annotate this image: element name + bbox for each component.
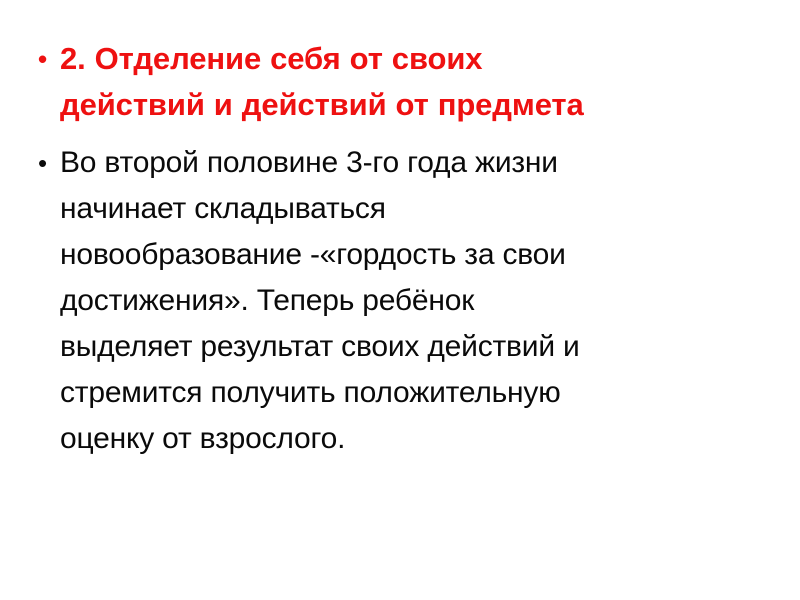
heading-line-1: 2. Отделение себя от своих <box>60 36 748 82</box>
bullet-point-icon: • <box>38 36 47 82</box>
body-line-6: стремится получить положительную <box>60 370 748 416</box>
body-line-2: начинает складываться <box>60 186 748 232</box>
bullet-item-heading[interactable]: • 2. Отделение себя от своих действий и … <box>0 36 800 128</box>
slide-canvas: • 2. Отделение себя от своих действий и … <box>0 0 800 600</box>
body-line-7: оценку от взрослого. <box>60 416 748 462</box>
body-line-5: выделяет результат своих действий и <box>60 324 748 370</box>
slide-content-placeholder: • 2. Отделение себя от своих действий и … <box>0 36 800 462</box>
bullet-point-icon: • <box>38 140 47 186</box>
body-line-3: новообразование -«гордость за свои <box>60 232 748 278</box>
body-line-4: достижения». Теперь ребёнок <box>60 278 748 324</box>
body-line-1: Во второй половине 3-го года жизни <box>60 140 748 186</box>
bullet-item-body[interactable]: • Во второй половине 3-го года жизни нач… <box>0 140 800 462</box>
heading-line-2: действий и действий от предмета <box>60 82 748 128</box>
